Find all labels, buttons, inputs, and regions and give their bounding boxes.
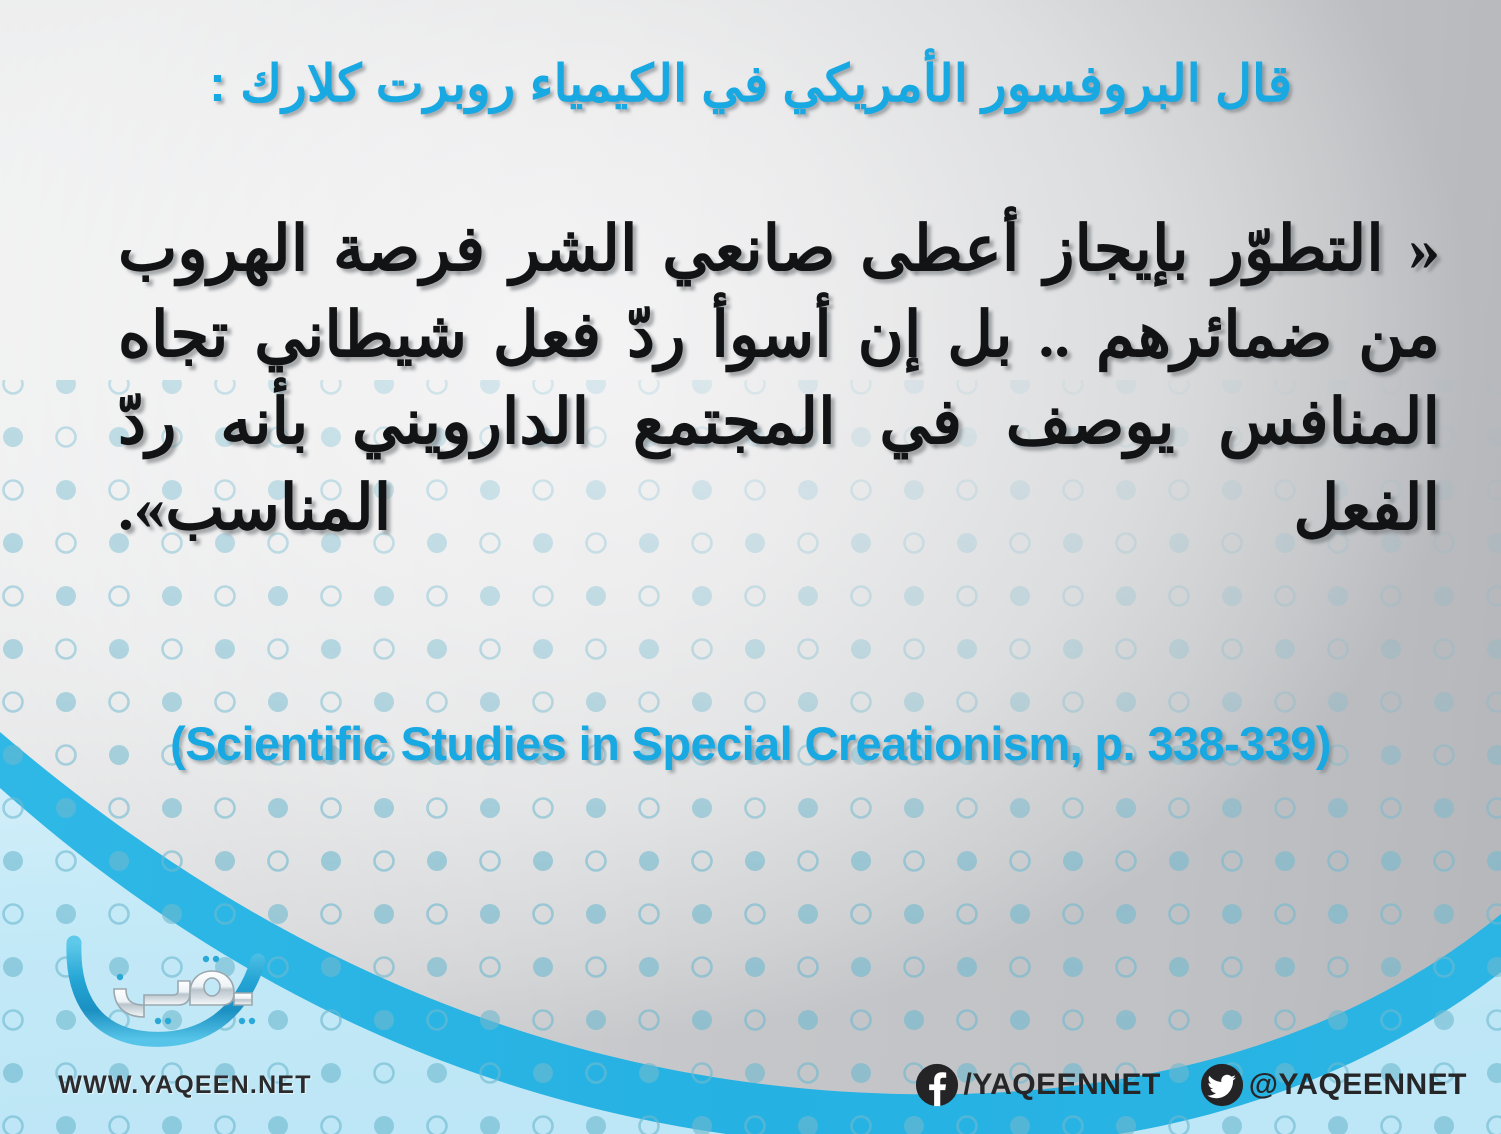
website-url[interactable]: WWW.YAQEEN.NET bbox=[40, 1071, 330, 1100]
twitter-icon[interactable] bbox=[1199, 1062, 1245, 1108]
yaqeen-crescent-icon bbox=[52, 927, 302, 1057]
source-citation: (Scientific Studies in Special Creationi… bbox=[0, 716, 1501, 771]
facebook-handle[interactable]: /YAQEENNET bbox=[964, 1068, 1161, 1102]
social-facebook[interactable]: /YAQEENNET bbox=[914, 1062, 1161, 1108]
brand-logo: WWW.YAQEEN.NET bbox=[40, 927, 330, 1112]
facebook-icon[interactable] bbox=[914, 1062, 960, 1108]
page-title: قال البروفسور الأمريكي في الكيمياء روبرت… bbox=[60, 56, 1441, 112]
twitter-handle[interactable]: @YAQEENNET bbox=[1249, 1068, 1467, 1102]
slide-canvas: قال البروفسور الأمريكي في الكيمياء روبرت… bbox=[0, 0, 1501, 1134]
social-twitter[interactable]: @YAQEENNET bbox=[1199, 1062, 1467, 1108]
quote-body-text: « التطوّر بإيجاز أعطى صانعي الشر فرصة ال… bbox=[118, 206, 1440, 551]
social-links: /YAQEENNET @YAQEENNET bbox=[914, 1062, 1467, 1108]
